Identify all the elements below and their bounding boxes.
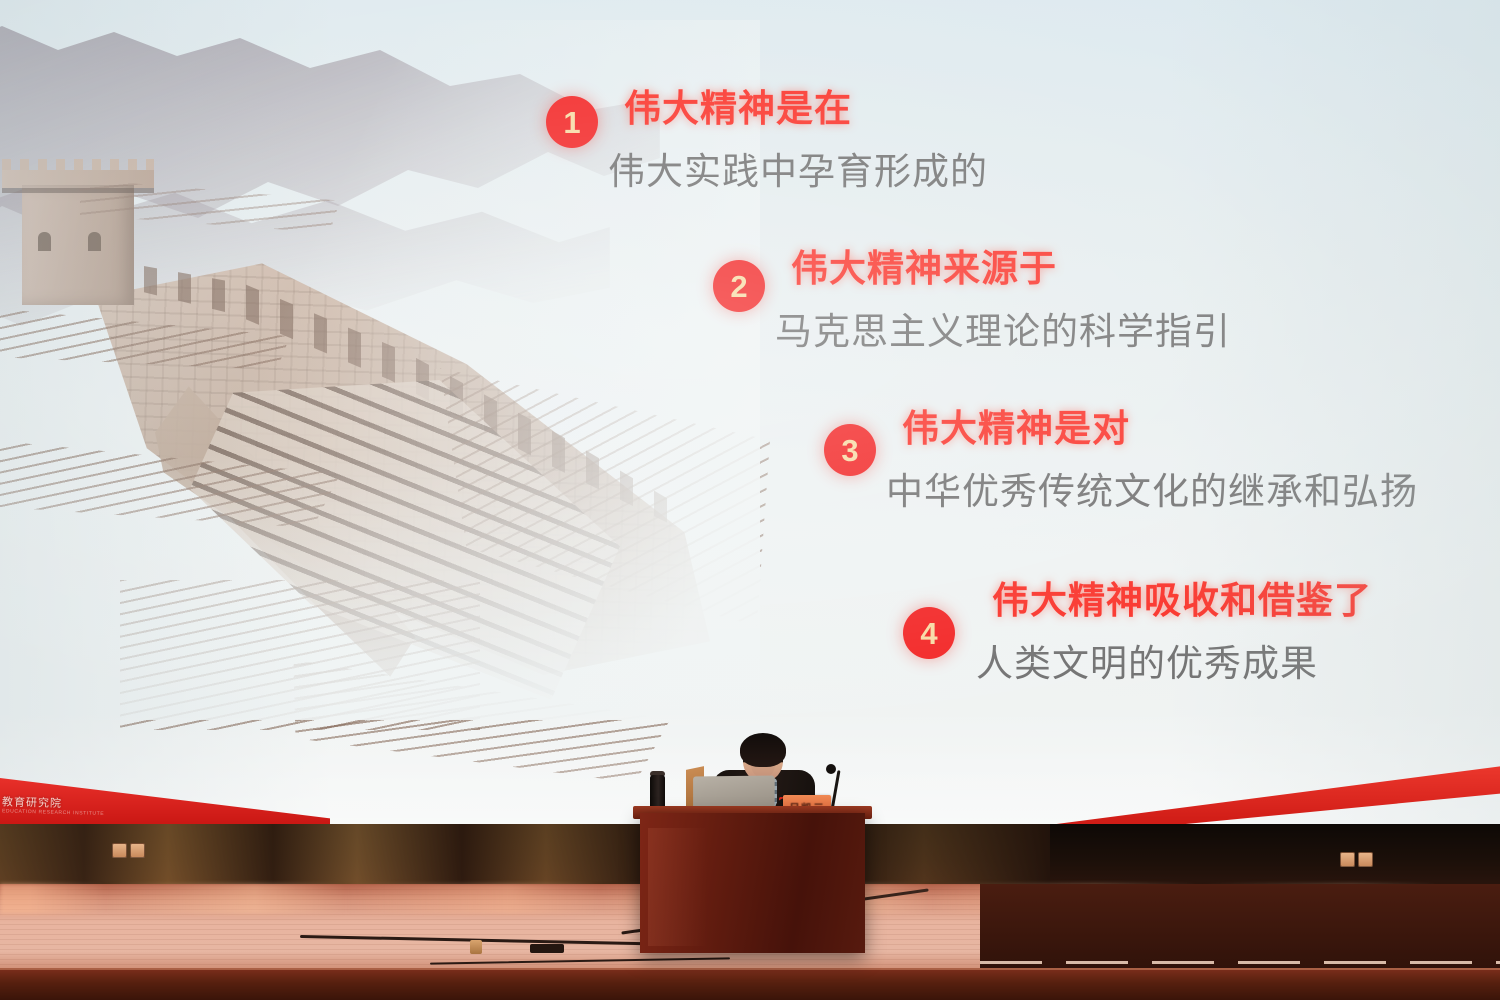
item-subtext-4: 人类文明的优秀成果 <box>976 633 1372 687</box>
brush-stroke-edge <box>0 305 290 425</box>
podium-highlight <box>648 828 708 946</box>
brush-stroke-edge <box>120 580 480 730</box>
item-text-block-2: 伟大精神来源于 马克思主义理论的科学指引 <box>791 238 1231 355</box>
badge-number-text: 2 <box>730 271 747 302</box>
watchtower-cornice <box>2 188 154 193</box>
watchtower <box>22 185 134 305</box>
speaker-hair <box>740 733 786 767</box>
cable-adapter-box <box>530 944 564 953</box>
item-text-block-4: 伟大精神吸收和借鉴了 人类文明的优秀成果 <box>992 570 1372 687</box>
item-text-block-3: 伟大精神是对 中华优秀传统文化的继承和弘扬 <box>902 398 1418 515</box>
projection-screen: 1 伟大精神是在 伟大实践中孕育形成的 2 伟大精神来源于 马克思主义理论的科学… <box>0 0 1500 828</box>
great-wall-body <box>70 255 710 675</box>
lecture-hall-photo: 1 伟大精神是在 伟大实践中孕育形成的 2 伟大精神来源于 马克思主义理论的科学… <box>0 0 1500 1000</box>
badge-number-text: 4 <box>920 618 937 649</box>
wall-crenellations <box>110 248 670 548</box>
stage-riser-right <box>980 884 1500 970</box>
cable-connector <box>470 940 482 954</box>
item-subtext-3: 中华优秀传统文化的继承和弘扬 <box>886 461 1418 515</box>
item-subtext-1: 伟大实践中孕育形成的 <box>608 141 988 195</box>
stage-wall-gold-panels <box>0 824 1050 886</box>
mountain-ridge-wash <box>0 20 660 320</box>
item-heading-3: 伟大精神是对 <box>902 398 1418 452</box>
great-wall-staircase <box>190 380 620 700</box>
item-text-block-1: 伟大精神是在 伟大实践中孕育形成的 <box>624 78 988 195</box>
badge-number-text: 3 <box>841 435 858 466</box>
wall-socket-icon <box>112 843 127 858</box>
mountain-ridge-wash-2 <box>0 170 610 360</box>
brush-stroke-edge <box>285 627 675 803</box>
item-number-badge-3: 3 <box>824 424 876 476</box>
item-heading-4: 伟大精神吸收和借鉴了 <box>992 570 1372 624</box>
microphone-head-icon <box>826 764 836 774</box>
brush-stroke-edge <box>440 350 770 650</box>
item-heading-2: 伟大精神来源于 <box>791 238 1231 292</box>
item-number-badge-2: 2 <box>713 260 765 312</box>
item-number-badge-1: 1 <box>546 96 598 148</box>
item-subtext-2: 马克思主义理论的科学指引 <box>775 301 1231 355</box>
stage-front-edge <box>0 968 1500 1000</box>
watchtower-roof <box>2 170 154 188</box>
watchtower-window-left <box>38 232 51 251</box>
wall-socket-icon <box>1358 852 1373 867</box>
brush-stroke-edge <box>0 420 340 570</box>
item-heading-1: 伟大精神是在 <box>624 78 988 132</box>
wall-socket-icon <box>130 843 145 858</box>
stair-parapet <box>155 360 575 690</box>
badge-number-text: 1 <box>563 107 580 138</box>
item-number-badge-4: 4 <box>903 607 955 659</box>
brush-stroke-edge <box>80 170 340 260</box>
watchtower-window-right <box>88 232 101 251</box>
wall-socket-icon <box>1340 852 1355 867</box>
